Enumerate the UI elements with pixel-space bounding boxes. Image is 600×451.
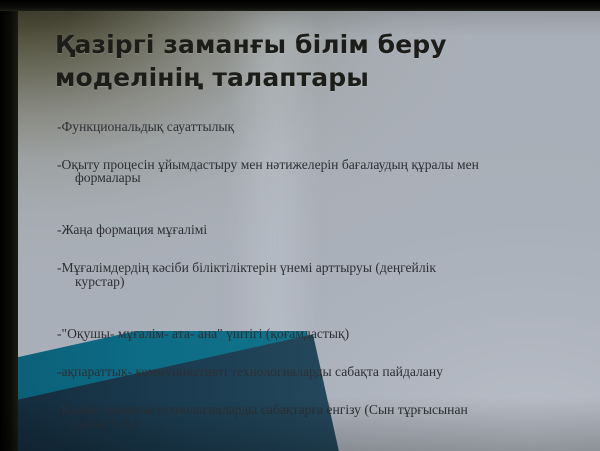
slide-bullet-list: -Функциональдық сауаттылық -Оқыту процес…: [57, 106, 573, 451]
screen-edge-top: [0, 0, 600, 11]
screen-edge-left: [0, 0, 18, 451]
slide-content: Қазіргі заманғы білім беру моделінің тал…: [17, 11, 600, 451]
bullet-line-continuation: курстар): [57, 275, 573, 289]
bullet-line-primary: -"Оқушы- мұғалім- ата- ана" үштігі (қоға…: [57, 326, 349, 341]
bullet-line-primary: -ақпараттық- коммуникативті технологияла…: [57, 364, 443, 379]
bullet-item: -Функциональдық сауаттылық: [57, 106, 573, 133]
bullet-item: -Қазіргі заманғы технологияларды сабақта…: [57, 390, 573, 444]
presentation-slide: Қазіргі заманғы білім беру моделінің тал…: [17, 11, 600, 451]
projected-slide-photo: Қазіргі заманғы білім беру моделінің тал…: [0, 0, 600, 451]
bullet-item: -"Оқушы- мұғалім- ата- ана" үштігі (қоға…: [57, 313, 573, 340]
bullet-line-primary: -Функциональдық сауаттылық: [57, 119, 234, 134]
bullet-item: -Оқыту процесін ұйымдастыру мен нәтижеле…: [57, 144, 573, 198]
slide-title: Қазіргі заманғы білім беру моделінің тал…: [55, 28, 525, 94]
bullet-line-primary: -Жаңа формация мұғалімі: [57, 222, 207, 237]
bullet-item: -Мұғалімдердің кәсіби біліктіліктерін үн…: [57, 248, 573, 302]
bullet-line-continuation: ойлау т. б.): [57, 417, 573, 431]
bullet-line-continuation: формалары: [57, 171, 573, 185]
bullet-item: -ақпараттық- коммуникативті технологияла…: [57, 351, 573, 378]
bullet-line-primary: -Қазіргі заманғы технологияларды сабақта…: [57, 402, 468, 417]
bullet-item: -Жаңа формация мұғалімі: [57, 210, 573, 237]
